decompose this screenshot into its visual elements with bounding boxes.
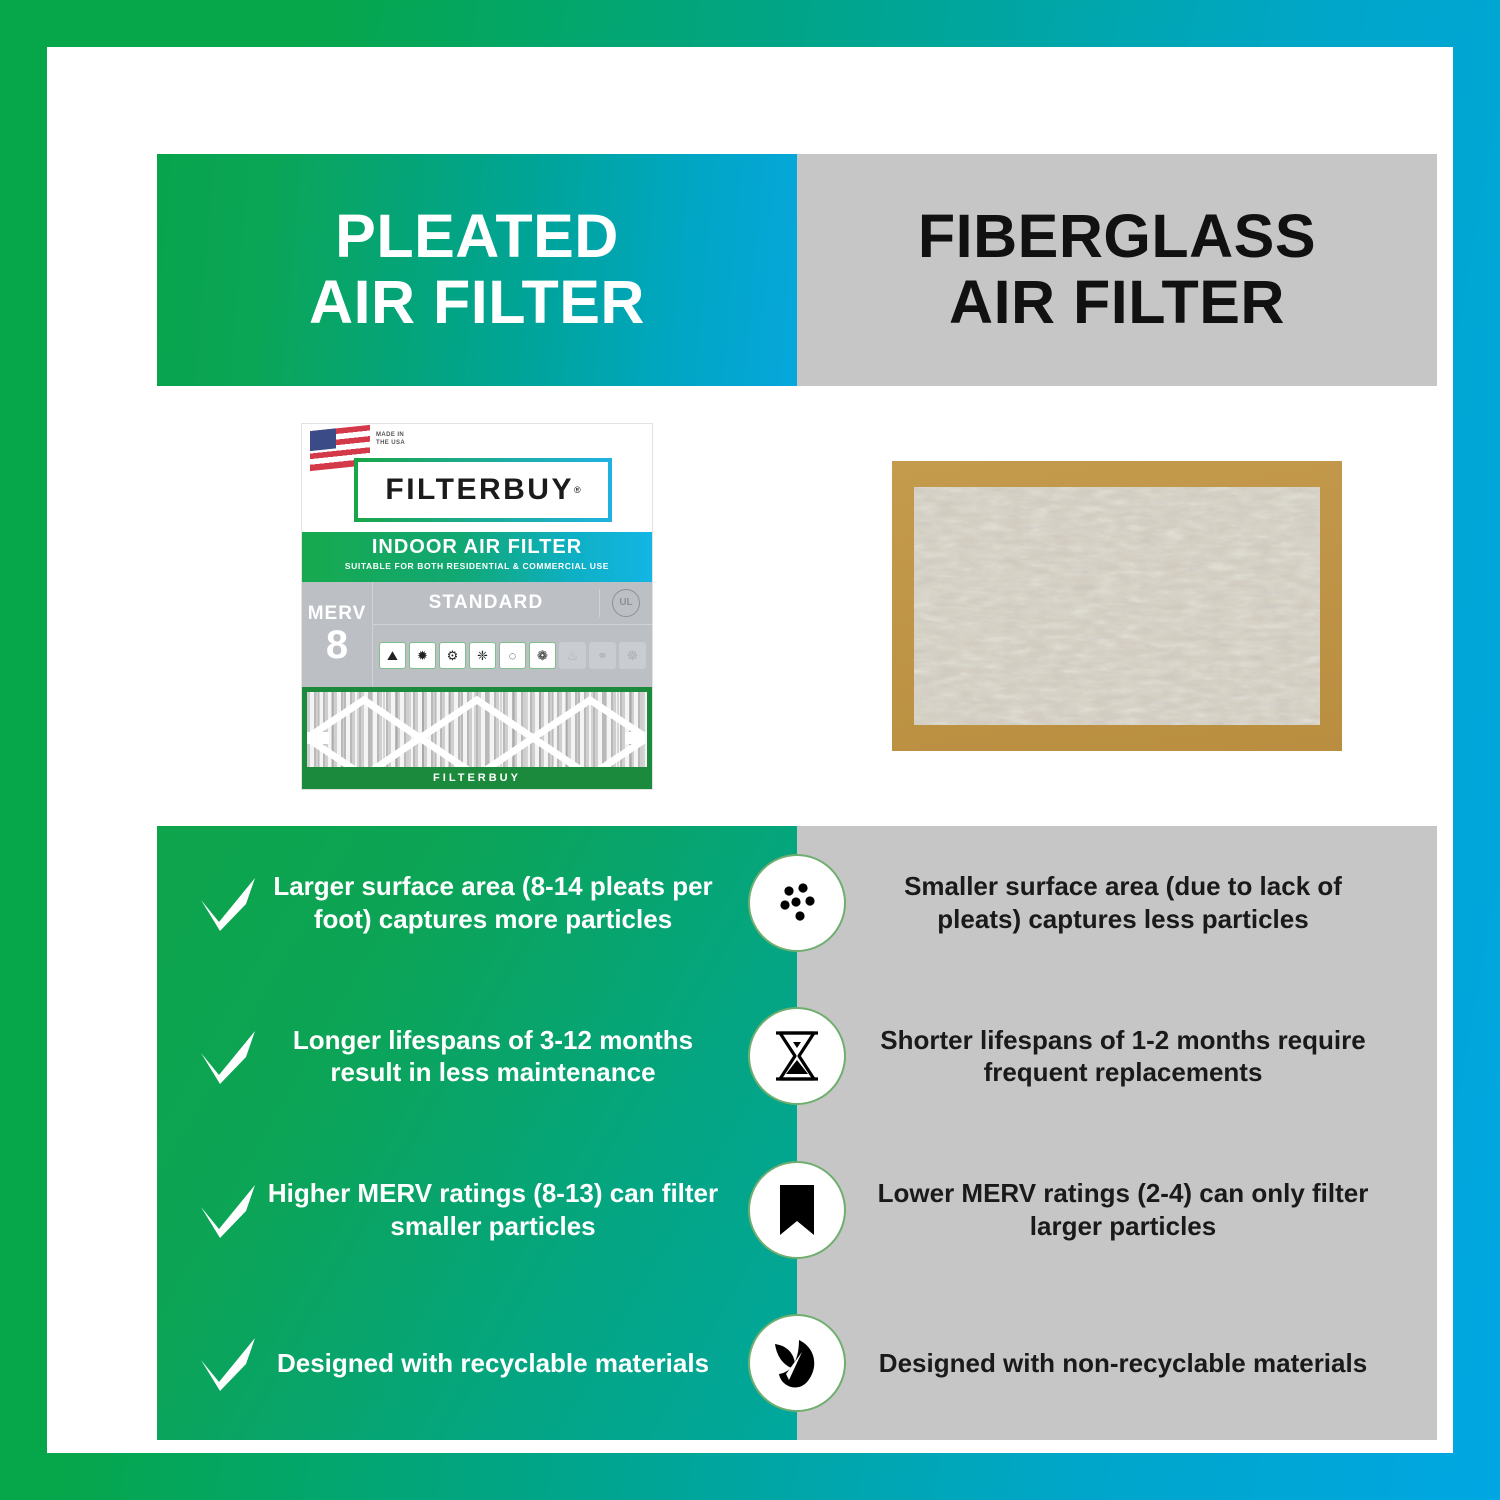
- row-right-cell: Smaller surface area (due to lack of ple…: [797, 826, 1437, 980]
- capture-feature-icon-strip: ⛰ ✹ ⚙ ❈ ◌ ❁ ♨ ⚭ ☸: [373, 625, 652, 687]
- row-right-cell: Lower MERV ratings (2-4) can only filter…: [797, 1133, 1437, 1287]
- pet-dander-icon: ❁: [529, 642, 556, 669]
- dust-mites-allergens-icon: ✹: [409, 642, 436, 669]
- household-dust-debris-icon: ⛰: [379, 642, 406, 669]
- fiberglass-filter-product-image: [892, 461, 1342, 751]
- fiberglass-photo-cell: [797, 386, 1437, 826]
- trademark-symbol: ®: [574, 485, 581, 495]
- fiberglass-header-line1: FIBERGLASS: [918, 202, 1316, 270]
- banner-subtitle: SUITABLE FOR BOTH RESIDENTIAL & COMMERCI…: [302, 561, 652, 571]
- indoor-air-filter-banner: INDOOR AIR FILTER SUITABLE FOR BOTH RESI…: [302, 532, 652, 582]
- row-right-text: Smaller surface area (due to lack of ple…: [869, 870, 1377, 936]
- pleated-label-top: MADE IN THE USA FILTERBUY®: [302, 424, 652, 532]
- row-left-text: Designed with recyclable materials: [265, 1347, 797, 1380]
- grade-row: STANDARD UL: [373, 582, 652, 625]
- made-in-line2: THE USA: [376, 440, 405, 446]
- comparison-rows: Larger surface area (8-14 pleats per foo…: [157, 826, 1437, 1440]
- header-row: PLEATED AIR FILTER FIBERGLASS AIR FILTER: [157, 154, 1437, 386]
- row-left-cell: Designed with recyclable materials: [157, 1287, 797, 1441]
- merv-label: MERV: [308, 603, 367, 625]
- row-left-text: Larger surface area (8-14 pleats per foo…: [265, 870, 797, 936]
- fiberglass-header-title: FIBERGLASS AIR FILTER: [918, 204, 1316, 336]
- row-left-text: Longer lifespans of 3-12 months result i…: [265, 1024, 797, 1090]
- checkmark-icon: [191, 1334, 265, 1392]
- row-right-text: Shorter lifespans of 1-2 months require …: [869, 1024, 1377, 1090]
- row-left-cell: Larger surface area (8-14 pleats per foo…: [157, 826, 797, 980]
- pollen-icon: ❈: [469, 642, 496, 669]
- row-left-text: Higher MERV ratings (8-13) can filter sm…: [265, 1177, 797, 1243]
- fiberglass-header-line2: AIR FILTER: [949, 268, 1285, 336]
- filterbuy-brand-text: FILTERBUY: [385, 473, 574, 507]
- made-in-usa-text: MADE IN THE USA: [376, 431, 405, 447]
- spec-right-column: STANDARD UL ⛰ ✹ ⚙ ❈: [373, 582, 652, 687]
- merv-value: 8: [326, 625, 348, 665]
- pleated-header: PLEATED AIR FILTER: [157, 154, 797, 386]
- pleated-spec-band: MERV 8 STANDARD UL: [302, 582, 652, 687]
- ul-certification-mark: UL: [599, 589, 652, 617]
- pleated-header-line2: AIR FILTER: [309, 268, 645, 336]
- pleated-footer-brand: FILTERBUY: [302, 767, 652, 789]
- fiberglass-header: FIBERGLASS AIR FILTER: [797, 154, 1437, 386]
- checkmark-icon: [191, 1181, 265, 1239]
- leaf-icon: [748, 1314, 846, 1412]
- infographic-canvas: PLEATED AIR FILTER FIBERGLASS AIR FILTER: [157, 154, 1437, 1440]
- lint-icon: ◌: [499, 642, 526, 669]
- comparison-row: Designed with recyclable materials Desig…: [157, 1287, 1437, 1441]
- checkmark-icon: [191, 1027, 265, 1085]
- made-in-line1: MADE IN: [376, 432, 404, 438]
- pleated-filter-media: FILTERBUY: [302, 687, 652, 789]
- checkmark-icon: [191, 874, 265, 932]
- row-right-cell: Shorter lifespans of 1-2 months require …: [797, 980, 1437, 1134]
- pleated-filter-product-image: MADE IN THE USA FILTERBUY® INDOOR AIR FI…: [302, 424, 652, 789]
- merv-rating-block: MERV 8: [302, 582, 373, 687]
- virus-icon: ☸: [619, 642, 646, 669]
- comparison-row: Larger surface area (8-14 pleats per foo…: [157, 826, 1437, 980]
- comparison-section: Larger surface area (8-14 pleats per foo…: [157, 826, 1437, 1440]
- ul-logo-icon: UL: [612, 589, 640, 617]
- row-right-cell: Designed with non-recyclable materials: [797, 1287, 1437, 1441]
- mold-icon: ⚙: [439, 642, 466, 669]
- fiberglass-media-texture: [914, 487, 1320, 725]
- hourglass-icon: [748, 1007, 846, 1105]
- pleated-photo-cell: MADE IN THE USA FILTERBUY® INDOOR AIR FI…: [157, 386, 797, 826]
- grade-label: STANDARD: [373, 592, 599, 614]
- banner-title: INDOOR AIR FILTER: [302, 536, 652, 559]
- fiberglass-fibers-icon: [914, 487, 1320, 725]
- bookmark-icon: [748, 1161, 846, 1259]
- filterbuy-brand-box: FILTERBUY®: [354, 458, 612, 522]
- comparison-row: Higher MERV ratings (8-13) can filter sm…: [157, 1133, 1437, 1287]
- particles-icon: [748, 854, 846, 952]
- row-right-text: Designed with non-recyclable materials: [879, 1347, 1367, 1380]
- comparison-row: Longer lifespans of 3-12 months result i…: [157, 980, 1437, 1134]
- row-right-text: Lower MERV ratings (2-4) can only filter…: [869, 1177, 1377, 1243]
- row-left-cell: Longer lifespans of 3-12 months result i…: [157, 980, 797, 1134]
- bacteria-icon: ⚭: [589, 642, 616, 669]
- smoke-icon: ♨: [559, 642, 586, 669]
- product-photo-row: MADE IN THE USA FILTERBUY® INDOOR AIR FI…: [157, 386, 1437, 826]
- inner-white-panel: PLEATED AIR FILTER FIBERGLASS AIR FILTER: [47, 47, 1453, 1453]
- outer-gradient-frame: PLEATED AIR FILTER FIBERGLASS AIR FILTER: [0, 0, 1500, 1500]
- pleated-header-line1: PLEATED: [335, 202, 619, 270]
- pleated-header-title: PLEATED AIR FILTER: [309, 204, 645, 336]
- row-left-cell: Higher MERV ratings (8-13) can filter sm…: [157, 1133, 797, 1287]
